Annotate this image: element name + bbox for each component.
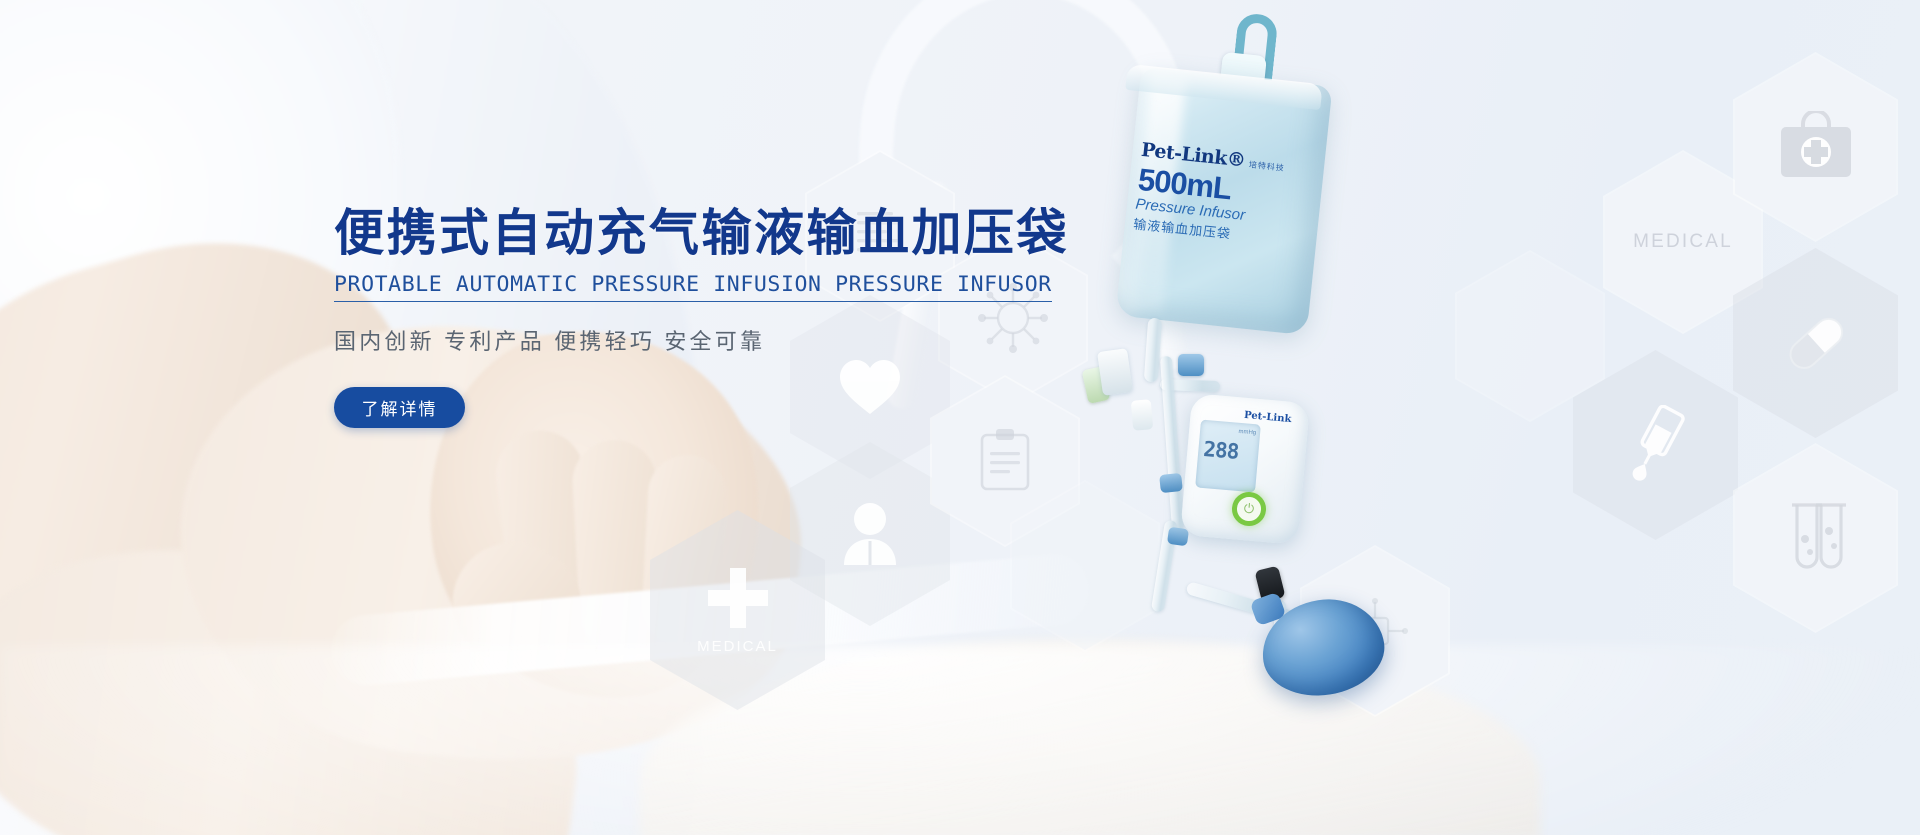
banner-headline: 便携式自动充气输液输血加压袋 xyxy=(334,205,1094,261)
power-icon: ⏻ xyxy=(1243,501,1255,518)
hex-test-tubes xyxy=(1733,443,1898,633)
blue-clamp xyxy=(1178,354,1204,376)
grey-connector xyxy=(1097,348,1133,396)
learn-more-button[interactable]: 了解详情 xyxy=(334,387,465,428)
hero-banner: MEDICAL MEDICAL xyxy=(0,0,1920,835)
medical-kit-icon xyxy=(1777,111,1855,183)
blue-clamp xyxy=(1159,473,1183,493)
banner-tagline: 国内创新 专利产品 便携轻巧 安全可靠 xyxy=(334,324,1094,356)
white-connector xyxy=(1131,399,1154,431)
lcd-reading: 288 xyxy=(1202,437,1239,464)
banner-subtitle-wrap: PROTABLE AUTOMATIC PRESSURE INFUSION PRE… xyxy=(334,261,1094,302)
hex-medical-label: MEDICAL xyxy=(697,638,778,655)
hex-medical-label-2: MEDICAL xyxy=(1633,231,1733,253)
banner-copy: 便携式自动充气输液输血加压袋 PROTABLE AUTOMATIC PRESSU… xyxy=(334,205,1094,428)
banner-subtitle-en: PROTABLE AUTOMATIC PRESSURE INFUSION PRE… xyxy=(334,272,1052,302)
pump-lcd-display: mmHg 288 xyxy=(1195,420,1261,493)
clipboard-icon xyxy=(977,428,1033,494)
iv-drip-icon xyxy=(1618,405,1694,485)
person-icon xyxy=(839,500,901,568)
pill-capsule-icon xyxy=(1776,303,1856,383)
test-tubes-icon xyxy=(1779,499,1853,577)
blue-clamp xyxy=(1167,527,1189,547)
medical-cross-icon xyxy=(706,566,770,630)
lcd-unit-label: mmHg xyxy=(1238,428,1256,439)
